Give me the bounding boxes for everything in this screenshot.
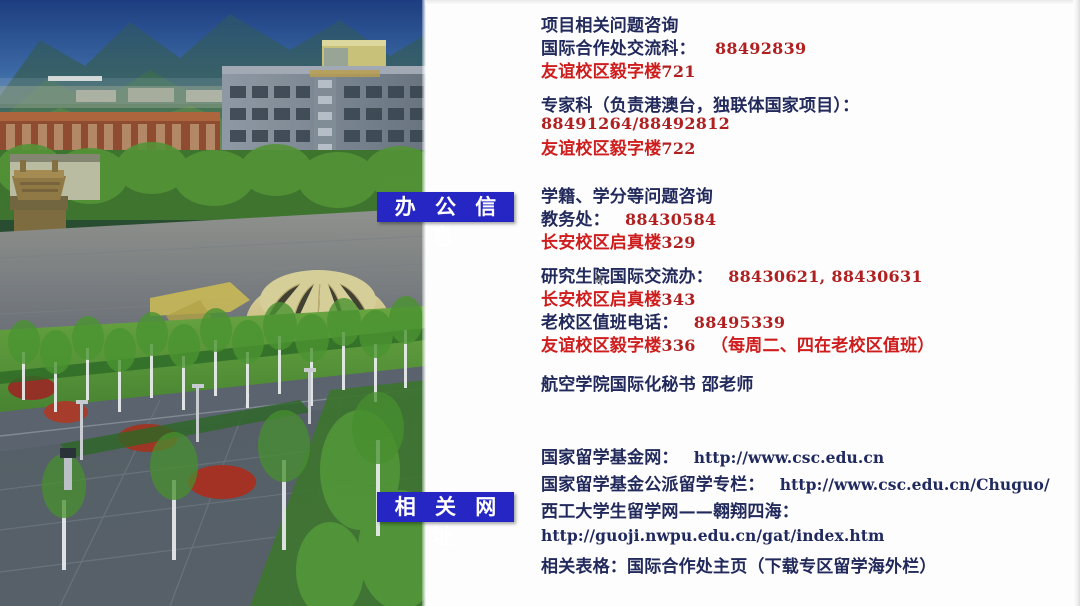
line-csc-chuguo-column[interactable]: 国家留学基金公派留学专栏： http://www.csc.edu.cn/Chug… xyxy=(541,470,1050,495)
line-intl-office-exchange: 国际合作处交流科： 88492839 xyxy=(541,34,806,59)
label-academic-affairs-office: 教务处： xyxy=(541,210,610,230)
line-expert-phones: 88491264/88492812 xyxy=(541,114,730,133)
slide-root: 办 公 信 息 相 关 网 址 项目相关问题咨询 国际合作处交流科： 88492… xyxy=(0,0,1080,606)
text-registration-credits-title: 学籍、学分等问题咨询 xyxy=(541,187,713,207)
url-csc-chuguo-column[interactable]: http://www.csc.edu.cn/Chuguo/ xyxy=(780,475,1050,494)
line-csc-website[interactable]: 国家留学基金网： http://www.csc.edu.cn xyxy=(541,443,884,468)
label-old-campus-duty-phone: 老校区值班电话： xyxy=(541,313,679,333)
info-text-column: 项目相关问题咨询 国际合作处交流科： 88492839 友谊校区毅字楼721 专… xyxy=(541,0,1061,606)
line-expert-section-title: 专家科（负责港澳台，独联体国家项目）： xyxy=(541,91,859,116)
line-related-forms: 相关表格：国际合作处主页（下载专区留学海外栏） xyxy=(541,552,937,577)
line-aeronautics-secretary: 航空学院国际化秘书 邵老师 xyxy=(541,370,754,395)
location-youyi-campus-yizi-building-3: 友谊校区毅字楼 xyxy=(541,336,661,356)
panel-right-edge xyxy=(1073,0,1080,606)
room-343: 343 xyxy=(661,290,695,309)
line-youyi-campus-336: 友谊校区毅字楼336 （每周二、四在老校区值班） xyxy=(541,331,935,356)
label-graduate-school-intl-exchange: 研究生院国际交流办： xyxy=(541,267,713,287)
label-csc-website: 国家留学基金网： xyxy=(541,448,679,468)
line-youyi-campus-722: 友谊校区毅字楼722 xyxy=(541,134,696,159)
location-changan-campus-qizhen-building-2: 长安校区启真楼 xyxy=(541,290,661,310)
mouse-cursor-icon xyxy=(596,272,606,287)
line-changan-campus-329: 长安校区启真楼329 xyxy=(541,228,696,253)
text-expert-section-title: 专家科（负责港澳台，独联体国家项目）： xyxy=(541,96,859,116)
section-badge-related-links: 相 关 网 址 xyxy=(377,492,514,522)
section-badge-office-info: 办 公 信 息 xyxy=(377,192,514,222)
phone-expert-section: 88491264/88492812 xyxy=(541,114,730,133)
campus-photo-illustration xyxy=(0,0,426,606)
campus-photo xyxy=(0,0,426,606)
line-academic-affairs: 教务处： 88430584 xyxy=(541,205,716,230)
label-intl-office-exchange: 国际合作处交流科： xyxy=(541,39,696,59)
line-nwpu-study-abroad-title: 西工大学生留学网——翱翔四海： xyxy=(541,497,799,522)
room-329: 329 xyxy=(661,233,695,252)
line-project-inquiry-title: 项目相关问题咨询 xyxy=(541,11,679,36)
line-registration-title: 学籍、学分等问题咨询 xyxy=(541,182,713,207)
label-nwpu-study-abroad-site: 西工大学生留学网——翱翔四海： xyxy=(541,502,799,522)
phone-old-campus-duty: 88495339 xyxy=(694,313,785,332)
location-youyi-campus-yizi-building: 友谊校区毅字楼 xyxy=(541,62,661,82)
line-old-campus-duty-phone: 老校区值班电话： 88495339 xyxy=(541,308,785,333)
text-aeronautics-intl-secretary: 航空学院国际化秘书 邵老师 xyxy=(541,375,754,395)
text-related-forms-note: 相关表格：国际合作处主页（下载专区留学海外栏） xyxy=(541,557,937,577)
note-duty-schedule: （每周二、四在老校区值班） xyxy=(711,336,935,356)
line-changan-campus-343: 长安校区启真楼343 xyxy=(541,285,696,310)
room-721: 721 xyxy=(661,62,695,81)
line-nwpu-guoji-url[interactable]: http://guoji.nwpu.edu.cn/gat/index.htm xyxy=(541,526,884,545)
phone-graduate-school-intl-exchange: 88430621, 88430631 xyxy=(728,267,923,286)
phone-academic-affairs-office: 88430584 xyxy=(625,210,716,229)
phone-intl-office-exchange: 88492839 xyxy=(715,39,806,58)
url-csc-website[interactable]: http://www.csc.edu.cn xyxy=(694,448,885,467)
text-project-inquiry-title: 项目相关问题咨询 xyxy=(541,16,679,36)
line-youyi-campus-721: 友谊校区毅字楼721 xyxy=(541,57,696,82)
room-722: 722 xyxy=(661,139,695,158)
label-csc-chuguo-column: 国家留学基金公派留学专栏： xyxy=(541,475,765,495)
url-nwpu-guoji-gat-index[interactable]: http://guoji.nwpu.edu.cn/gat/index.htm xyxy=(541,526,884,545)
room-336: 336 xyxy=(661,336,695,355)
location-changan-campus-qizhen-building: 长安校区启真楼 xyxy=(541,233,661,253)
location-youyi-campus-yizi-building-2: 友谊校区毅字楼 xyxy=(541,139,661,159)
